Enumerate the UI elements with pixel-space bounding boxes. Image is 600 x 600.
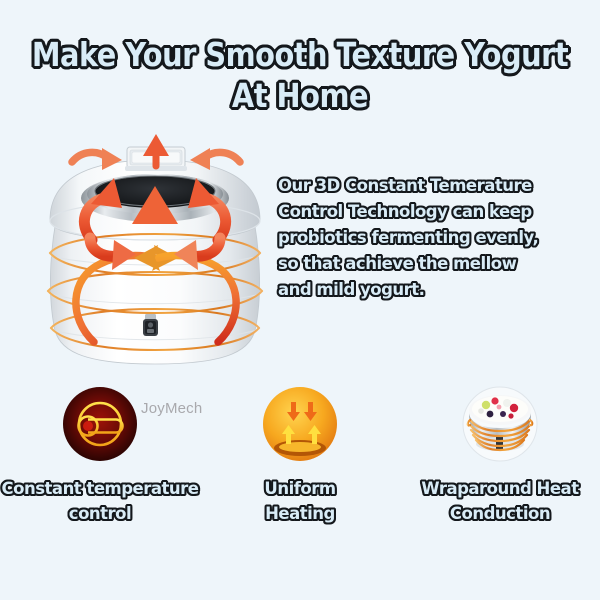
feature-item-uniform-heating: Uniform Heating	[200, 386, 400, 566]
page-title-line-1: Make Your Smooth Texture Yogurt	[9, 34, 591, 75]
feature-3-label-line-2: Conduction	[421, 501, 578, 526]
page-title-line-2: At Home	[9, 75, 591, 116]
feature-label-wraparound-heat: Wraparound Heat Conduction	[421, 476, 578, 526]
description-line-5: and mild yogurt.	[278, 277, 578, 303]
feature-list: Constant temperature control	[0, 386, 600, 566]
feature-2-label-line-2: Heating	[264, 501, 335, 526]
description-line-1: Our 3D Constant Temerature	[278, 173, 578, 199]
thermometer-icon	[62, 386, 138, 462]
feature-1-label-line-1: Constant temperature	[2, 476, 199, 501]
feature-label-constant-temperature: Constant temperature control	[2, 476, 199, 526]
feature-2-label-line-1: Uniform	[264, 476, 335, 501]
product-illustration: JoyMech	[28, 128, 282, 378]
page-title: Make Your Smooth Texture Yogurt At Home	[9, 34, 591, 116]
description-text: Our 3D Constant Temerature Control Techn…	[278, 173, 578, 303]
feature-1-label-line-2: control	[2, 501, 199, 526]
uniform-heating-icon	[262, 386, 338, 462]
description-line-4: so that achieve the mellow	[278, 251, 578, 277]
wraparound-heat-coil-icon	[462, 386, 538, 462]
feature-label-uniform-heating: Uniform Heating	[264, 476, 335, 526]
feature-item-wraparound-heat: Wraparound Heat Conduction	[400, 386, 600, 566]
feature-3-label-line-1: Wraparound Heat	[421, 476, 578, 501]
description-line-2: Control Technology can keep	[278, 199, 578, 225]
description-line-3: probiotics fermenting evenly,	[278, 225, 578, 251]
feature-item-constant-temperature: Constant temperature control	[0, 386, 200, 566]
